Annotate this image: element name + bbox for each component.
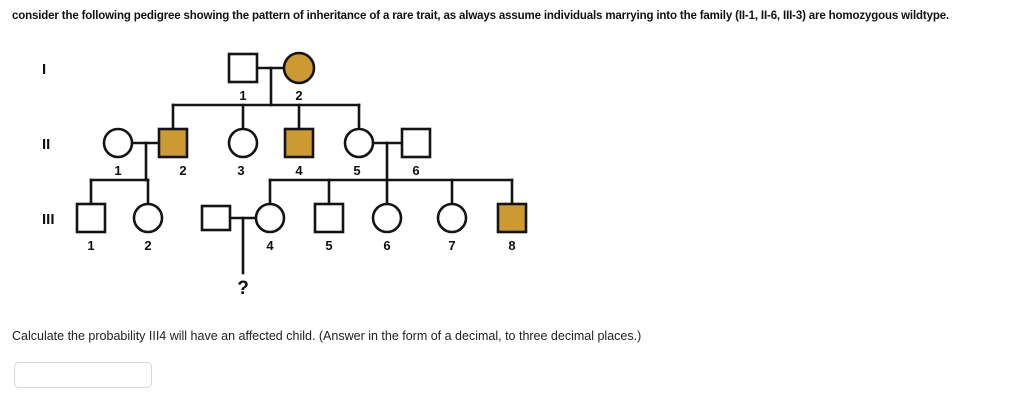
individual-number-III-2: 2	[144, 238, 151, 253]
individual-I-2[interactable]: 2	[284, 53, 314, 103]
unknown-child-question-mark: ?	[237, 278, 249, 299]
individual-III-1[interactable]: 1	[77, 204, 105, 253]
individual-II-2[interactable]: 2	[159, 129, 187, 178]
individual-number-II-4: 4	[295, 163, 303, 178]
symbol-male-unaffected	[229, 54, 257, 82]
symbol-female-unaffected	[134, 204, 162, 232]
symbol-male-affected	[285, 129, 313, 157]
individual-III-6[interactable]: 6	[373, 204, 401, 253]
pedigree-svg: I II III	[0, 38, 620, 308]
symbol-male-unaffected	[315, 204, 343, 232]
individual-I-1[interactable]: 1	[229, 54, 257, 103]
individual-III-2[interactable]: 2	[134, 204, 162, 253]
symbol-female-unaffected	[438, 204, 466, 232]
symbol-female-unaffected	[229, 129, 257, 157]
individual-number-III-6: 6	[383, 238, 390, 253]
symbol-female-unaffected	[256, 204, 284, 232]
individual-number-III-4: 4	[266, 238, 274, 253]
individual-II-5[interactable]: 5	[345, 129, 373, 178]
symbol-male-unaffected	[202, 206, 230, 230]
individual-number-II-6: 6	[412, 163, 419, 178]
symbol-female-unaffected	[373, 204, 401, 232]
individual-number-III-8: 8	[508, 238, 515, 253]
answer-input[interactable]	[14, 362, 152, 388]
individual-III-7[interactable]: 7	[438, 204, 466, 253]
individual-II-1[interactable]: 1	[104, 129, 132, 178]
individual-III-3[interactable]	[202, 206, 230, 230]
individual-II-3[interactable]: 3	[229, 129, 257, 178]
individual-III-5[interactable]: 5	[315, 204, 343, 253]
individual-number-II-2: 2	[179, 163, 186, 178]
individual-number-II-1: 1	[114, 163, 121, 178]
question-text: Calculate the probability III4 will have…	[12, 329, 641, 343]
individual-III-4[interactable]: 4	[256, 204, 284, 253]
generation-label-III: III	[42, 211, 55, 228]
individual-II-6[interactable]: 6	[402, 129, 430, 178]
prompt-text: consider the following pedigree showing …	[12, 10, 1012, 22]
individual-number-II-5: 5	[353, 163, 360, 178]
generation-label-I: I	[42, 61, 46, 78]
pedigree-diagram: I II III	[0, 38, 620, 308]
individual-II-4[interactable]: 4	[285, 129, 313, 178]
symbol-male-affected	[498, 204, 526, 232]
symbol-female-unaffected	[345, 129, 373, 157]
individual-number-III-1: 1	[87, 238, 94, 253]
symbol-female-unaffected	[104, 129, 132, 157]
individual-number-I-2: 2	[295, 88, 302, 103]
symbol-male-unaffected	[402, 129, 430, 157]
generation-label-II: II	[42, 136, 50, 153]
individual-number-III-5: 5	[325, 238, 332, 253]
individual-number-I-1: 1	[239, 88, 246, 103]
symbol-female-affected	[284, 53, 314, 83]
symbol-male-unaffected	[77, 204, 105, 232]
symbol-male-affected	[159, 129, 187, 157]
individual-III-8[interactable]: 8	[498, 204, 526, 253]
individual-number-III-7: 7	[448, 238, 455, 253]
individual-number-II-3: 3	[237, 163, 244, 178]
